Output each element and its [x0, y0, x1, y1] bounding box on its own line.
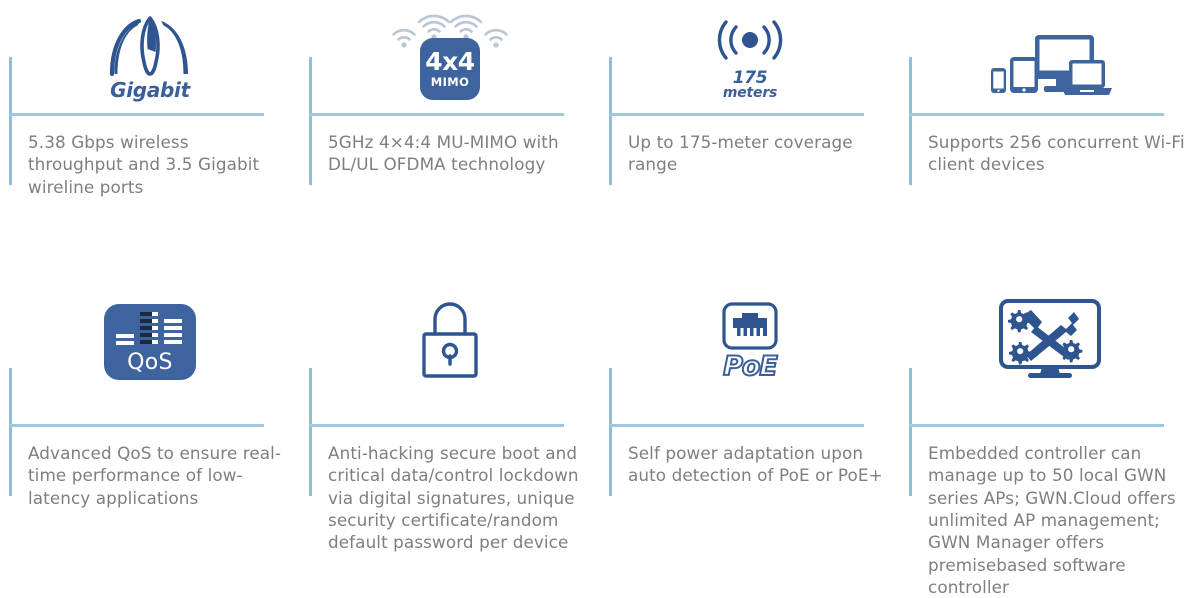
mimo-badge-main: 4x4 — [425, 49, 474, 74]
card-rule-vertical — [309, 368, 312, 496]
feature-card-qos: QoS Advanced QoS to ensure real-time per… — [0, 270, 300, 564]
padlock-icon — [419, 296, 481, 380]
controller-icon-container — [900, 288, 1200, 380]
broadcast-arcs-icon — [708, 20, 792, 70]
equalizer-bars-icon — [115, 310, 185, 350]
ethernet-poe-icon: PoE — [722, 302, 778, 380]
card-rule-horizontal — [909, 424, 1164, 427]
card-rule-horizontal — [909, 113, 1164, 116]
multi-device-icon — [988, 30, 1113, 100]
card-rule-horizontal — [9, 424, 264, 427]
card-rule-horizontal — [309, 113, 564, 116]
feature-description: 5.38 Gbps wireless throughput and 3.5 Gi… — [28, 131, 286, 198]
signal-broadcast-icon: 175 meters — [708, 20, 792, 100]
gigabit-arcs-icon — [102, 16, 198, 78]
mimo-badge-sub: MIMO — [431, 77, 470, 89]
feature-description: Self power adaptation upon auto detectio… — [628, 442, 886, 487]
feature-description: 5GHz 4×4:4 MU-MIMO with DL/UL OFDMA tech… — [328, 131, 586, 176]
feature-card-security: Anti-hacking secure boot and critical da… — [300, 270, 600, 564]
card-rule-horizontal — [9, 113, 264, 116]
card-rule-vertical — [609, 368, 612, 496]
gigabit-icon-label: Gigabit — [110, 80, 190, 100]
poe-icon-container: PoE — [600, 288, 900, 380]
coverage-icon-unit: meters — [723, 86, 777, 100]
feature-description: Supports 256 concurrent Wi-Fi client dev… — [928, 131, 1186, 176]
card-rule-horizontal — [309, 424, 564, 427]
feature-card-clients: Supports 256 concurrent Wi-Fi client dev… — [900, 0, 1200, 270]
card-rule-vertical — [9, 368, 12, 496]
feature-description: Up to 175-meter coverage range — [628, 131, 886, 176]
card-rule-vertical — [909, 368, 912, 496]
qos-icon-container: QoS — [0, 288, 300, 380]
feature-description: Advanced QoS to ensure real-time perform… — [28, 442, 286, 509]
feature-description: Embedded controller can manage up to 50 … — [928, 442, 1186, 598]
feature-card-mimo: 4x4 MIMO 5GHz 4×4:4 MU-MIMO with DL/UL O… — [300, 0, 600, 270]
feature-card-coverage: 175 meters Up to 175-meter coverage rang… — [600, 0, 900, 270]
feature-card-controller: Embedded controller can manage up to 50 … — [900, 270, 1200, 564]
wifi-4x4-mimo-icon: 4x4 MIMO — [388, 8, 512, 100]
clients-icon-container — [900, 0, 1200, 100]
gigabit-antenna-icon: Gigabit — [102, 16, 198, 100]
mimo-badge: 4x4 MIMO — [420, 38, 480, 100]
mimo-icon-container: 4x4 MIMO — [300, 0, 600, 100]
qos-badge-label: QoS — [127, 352, 173, 374]
feature-description: Anti-hacking secure boot and critical da… — [328, 442, 586, 554]
feature-card-gigabit: Gigabit 5.38 Gbps wireless throughput an… — [0, 0, 300, 270]
coverage-icon-container: 175 meters — [600, 0, 900, 100]
card-rule-horizontal — [609, 424, 864, 427]
gigabit-icon-container: Gigabit — [0, 0, 300, 100]
card-rule-horizontal — [609, 113, 864, 116]
security-icon-container — [300, 288, 600, 380]
feature-grid: Gigabit 5.38 Gbps wireless throughput an… — [0, 0, 1200, 564]
qos-equalizer-icon: QoS — [104, 304, 196, 380]
monitor-tools-icon — [998, 298, 1102, 380]
poe-icon-label: PoE — [723, 353, 777, 380]
ethernet-jack-icon — [722, 302, 778, 350]
feature-card-poe: PoE Self power adaptation upon auto dete… — [600, 270, 900, 564]
